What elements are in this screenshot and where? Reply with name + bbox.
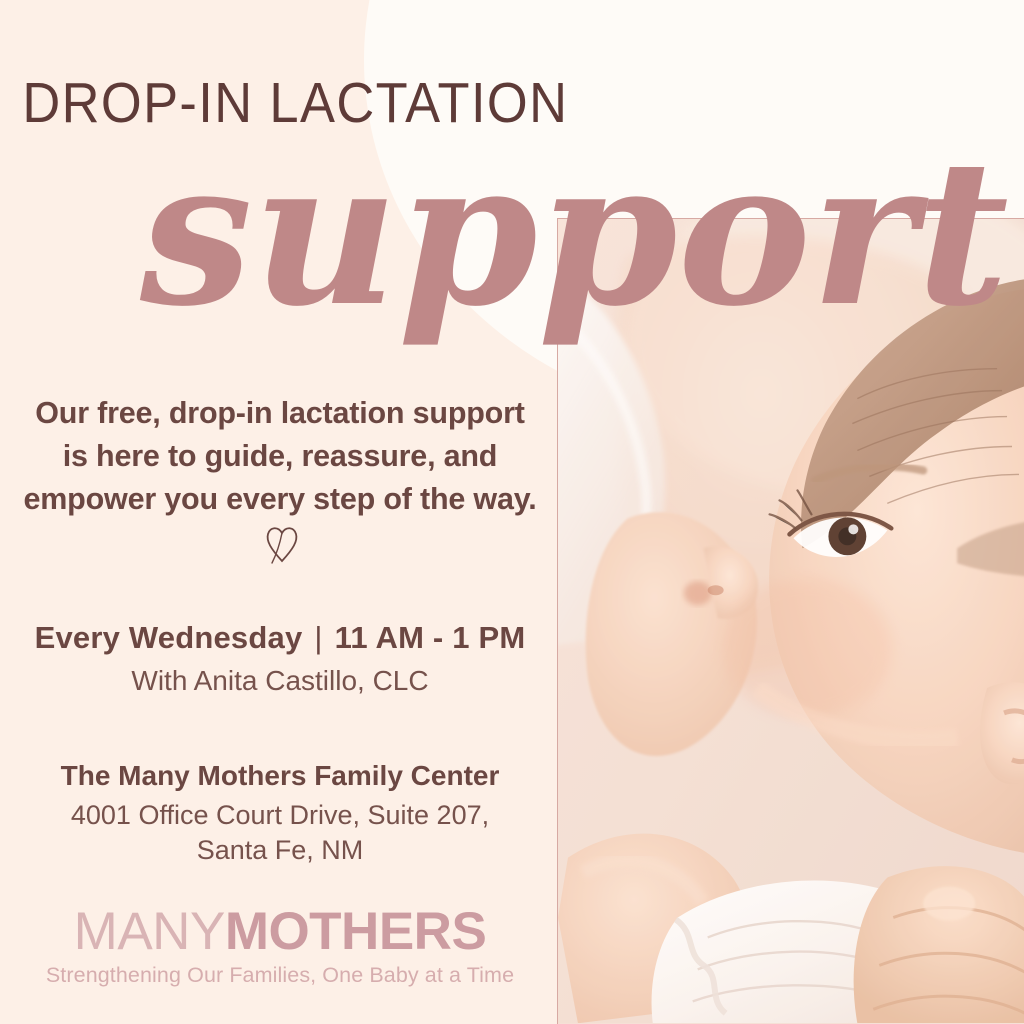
venue-name: The Many Mothers Family Center bbox=[20, 760, 540, 792]
content-column: DROP-IN LACTATION support Our free, drop… bbox=[0, 0, 560, 1024]
venue-address: 4001 Office Court Drive, Suite 207, Sant… bbox=[20, 798, 540, 868]
body-paragraph: Our free, drop-in lactation support is h… bbox=[20, 392, 540, 577]
schedule-facilitator: With Anita Castillo, CLC bbox=[20, 665, 540, 697]
many-mothers-logo: MANYMOTHERS Strengthening Our Families, … bbox=[20, 905, 540, 988]
hand-drawn-heart-icon bbox=[263, 521, 301, 577]
poster-canvas: DROP-IN LACTATION support Our free, drop… bbox=[0, 0, 1024, 1024]
schedule-block: Every Wednesday|11 AM - 1 PM With Anita … bbox=[20, 620, 540, 697]
schedule-day: Every Wednesday bbox=[35, 620, 303, 655]
venue-address-line-1: 4001 Office Court Drive, Suite 207, bbox=[71, 800, 489, 830]
venue-address-line-2: Santa Fe, NM bbox=[197, 835, 364, 865]
logo-tagline: Strengthening Our Families, One Baby at … bbox=[20, 963, 540, 988]
logo-wordmark: MANYMOTHERS bbox=[20, 905, 540, 958]
venue-block: The Many Mothers Family Center 4001 Offi… bbox=[20, 760, 540, 868]
logo-word-mothers: MOTHERS bbox=[225, 902, 487, 961]
body-paragraph-text: Our free, drop-in lactation support is h… bbox=[24, 396, 537, 516]
schedule-separator: | bbox=[314, 620, 322, 655]
breastfeeding-photo bbox=[558, 219, 1024, 1023]
page-title: DROP-IN LACTATION bbox=[22, 70, 537, 136]
logo-word-many: MANY bbox=[74, 902, 225, 961]
photo-panel bbox=[557, 218, 1024, 1024]
schedule-line: Every Wednesday|11 AM - 1 PM bbox=[20, 620, 540, 656]
schedule-time: 11 AM - 1 PM bbox=[335, 620, 526, 655]
